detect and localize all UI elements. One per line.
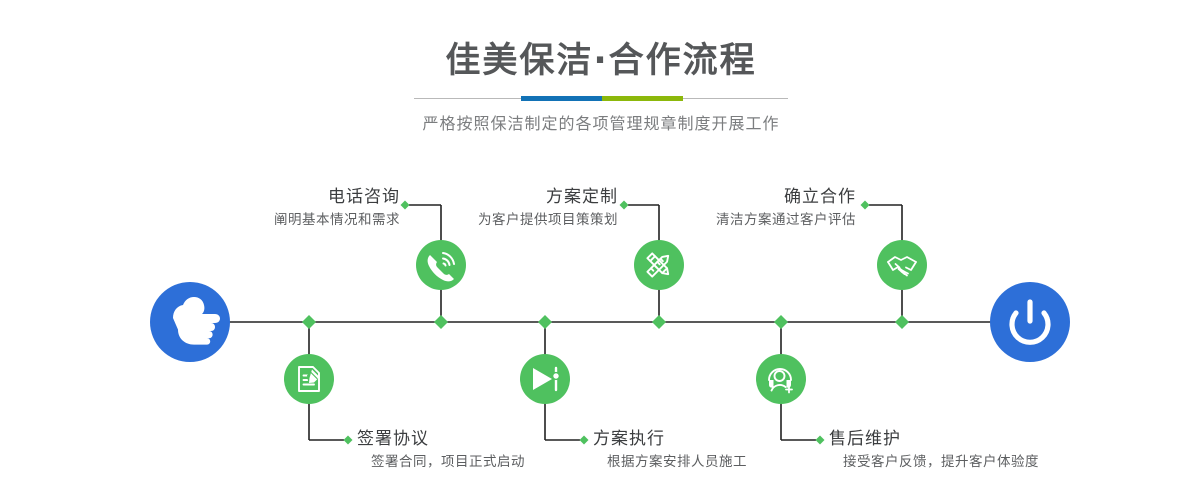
step-title-6: 确立合作 [636,186,856,208]
step-desc-3: 根据方案安排人员施工 [593,450,853,472]
end-node [990,282,1070,362]
step-icon-headset-support [756,354,806,404]
step-icon-pencil-design [634,240,684,290]
step-label-4: 方案定制 为客户提供项目策策划 [398,186,618,230]
step-label-3: 方案执行 根据方案安排人员施工 [593,428,853,472]
step-title-4: 方案定制 [398,186,618,208]
step-desc-2: 阐明基本情况和需求 [180,208,400,230]
step-title-1: 签署协议 [357,428,617,450]
step-desc-1: 签署合同，项目正式启动 [357,450,617,472]
spine-node-3 [538,315,552,329]
step-icon-play-execute [520,354,570,404]
step-label-2: 电话咨询 阐明基本情况和需求 [180,186,400,230]
step-title-5: 售后维护 [829,428,1109,450]
step-icon-phone-call [416,240,466,290]
spine-node-1 [302,315,316,329]
step-icon-handshake [877,240,927,290]
step-label-5: 售后维护 接受客户反馈，提升客户体验度 [829,428,1109,472]
start-node [150,282,233,362]
step-desc-5: 接受客户反馈，提升客户体验度 [829,450,1109,472]
process-flow-diagram [0,0,1202,502]
step-label-1: 签署协议 签署合同，项目正式启动 [357,428,617,472]
step-desc-4: 为客户提供项目策策划 [398,208,618,230]
step-icon-document-sign [284,354,334,404]
step-label-6: 确立合作 清洁方案通过客户评估 [636,186,856,230]
spine-node-2 [434,315,448,329]
step-desc-6: 清洁方案通过客户评估 [636,208,856,230]
spine-node-4 [652,315,666,329]
spine-node-6 [895,315,909,329]
step-title-3: 方案执行 [593,428,853,450]
spine-node-5 [774,315,788,329]
step-title-2: 电话咨询 [180,186,400,208]
